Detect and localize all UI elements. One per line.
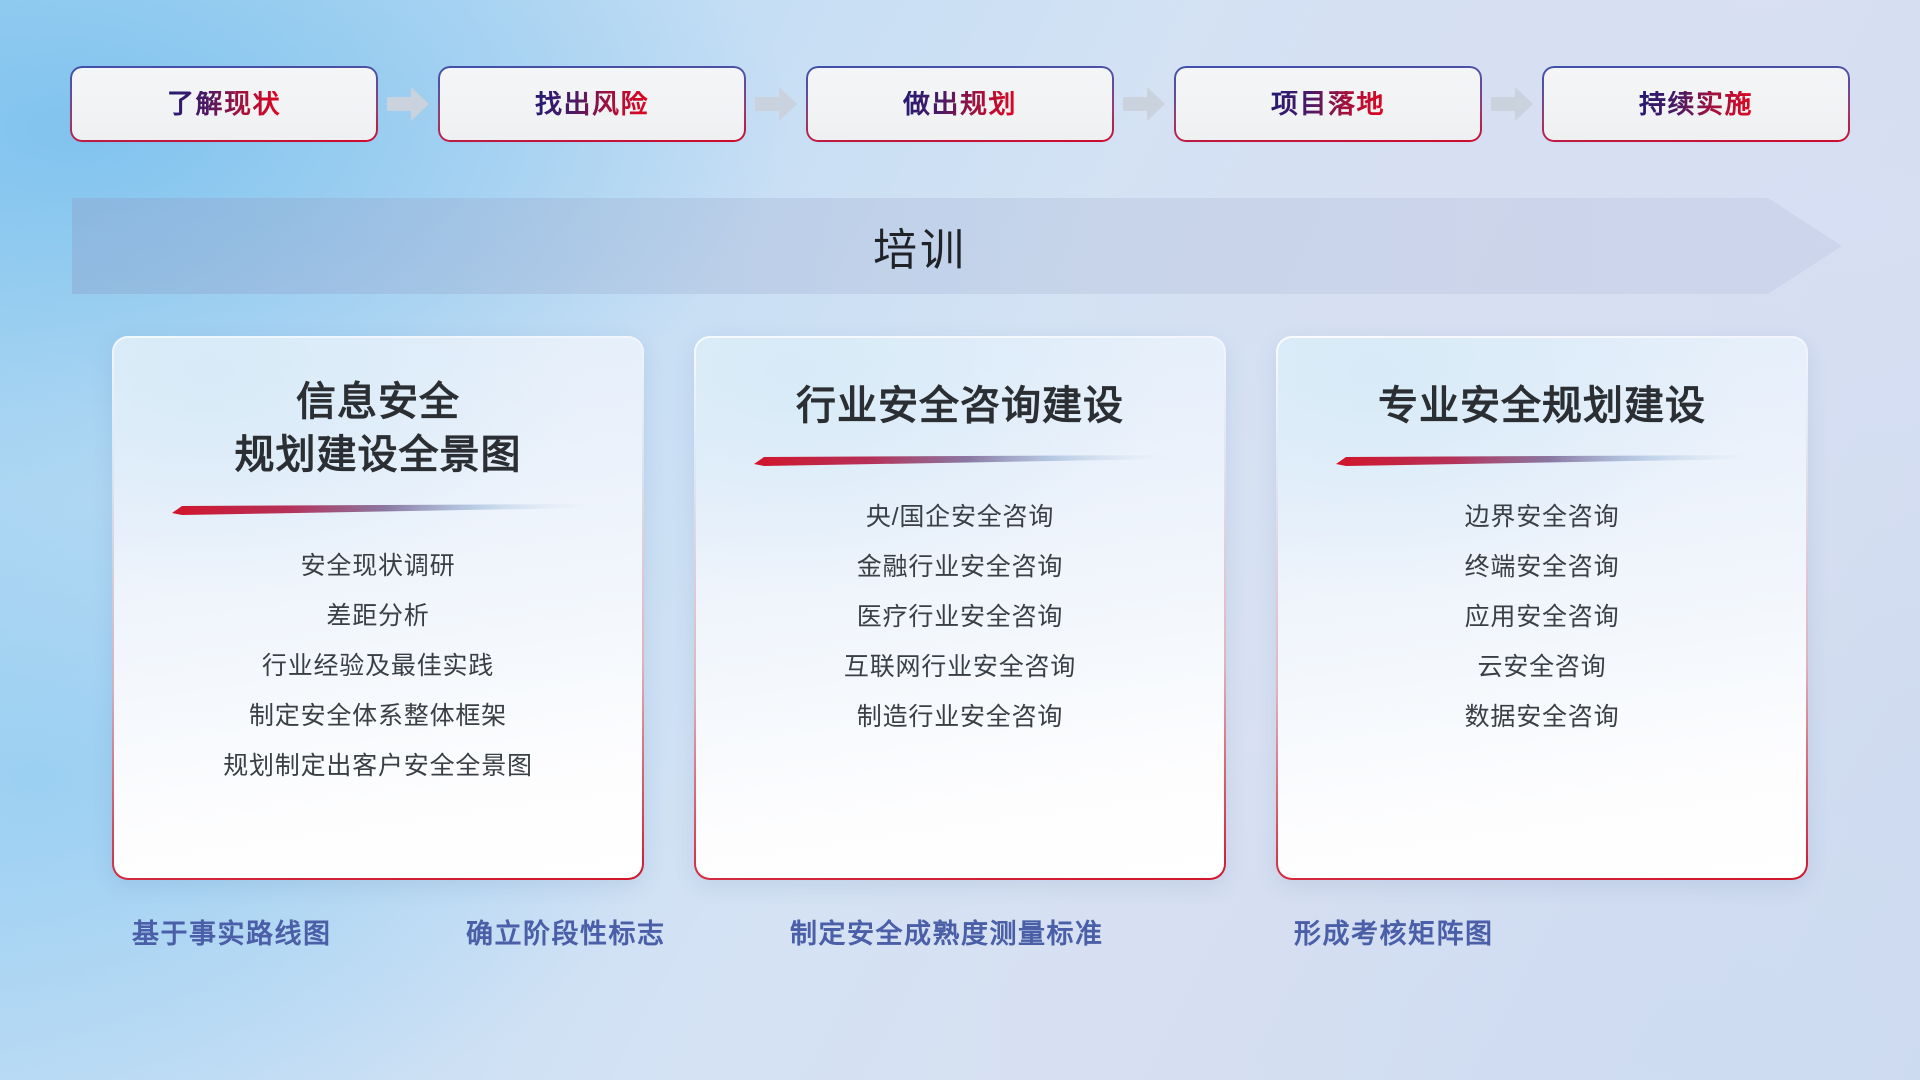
service-card-3-title: 专业安全规划建设 <box>1278 380 1806 433</box>
step-pill-label: 做出规划 <box>903 91 1017 118</box>
list-item: 互联网行业安全咨询 <box>844 642 1076 692</box>
footer-labels-row: 基于事实路线图 确立阶段性标志 制定安全成熟度测量标准 形成考核矩阵图 <box>0 910 1920 958</box>
service-card-2[interactable]: 行业安全咨询建设 <box>694 336 1226 880</box>
service-card-1-list: 安全现状调研 差距分析 行业经验及最佳实践 制定安全体系整体框架 规划制定出客户… <box>114 541 642 791</box>
list-item: 制定安全体系整体框架 <box>249 691 507 741</box>
step-pill-label: 持续实施 <box>1639 91 1753 118</box>
slide-canvas: 了解现状 找出风险 做出规划 项目落地 <box>0 0 1920 1080</box>
step-pill-label: 了解现状 <box>167 91 281 118</box>
step-pill-label: 找出风险 <box>535 91 649 118</box>
service-card-3-title-line-1: 专业安全规划建设 <box>1302 380 1782 433</box>
right-arrow-icon <box>387 87 429 121</box>
service-card-2-list: 央/国企安全咨询 金融行业安全咨询 医疗行业安全咨询 互联网行业安全咨询 制造行… <box>696 492 1224 742</box>
footer-label-3: 制定安全成熟度测量标准 <box>790 910 1104 958</box>
card-divider-accent <box>1336 455 1748 466</box>
list-item: 安全现状调研 <box>301 541 456 591</box>
right-arrow-icon <box>1491 87 1533 121</box>
banner-title: 培训 <box>72 198 1842 294</box>
step-pill-1[interactable]: 了解现状 <box>72 68 376 140</box>
service-card-1-title-line-1: 信息安全 <box>138 376 618 429</box>
step-pill-3[interactable]: 做出规划 <box>808 68 1112 140</box>
service-card-1-title: 信息安全 规划建设全景图 <box>114 376 642 482</box>
list-item: 金融行业安全咨询 <box>857 542 1063 592</box>
list-item: 医疗行业安全咨询 <box>857 592 1063 642</box>
card-divider-accent <box>754 455 1166 466</box>
service-card-3[interactable]: 专业安全规划建设 <box>1276 336 1808 880</box>
list-item: 差距分析 <box>326 591 429 641</box>
list-item: 数据安全咨询 <box>1465 692 1620 742</box>
service-card-2-title-line-1: 行业安全咨询建设 <box>720 380 1200 433</box>
process-steps-row: 了解现状 找出风险 做出规划 项目落地 <box>72 68 1848 140</box>
list-item: 央/国企安全咨询 <box>866 492 1054 542</box>
step-pill-label: 项目落地 <box>1271 91 1385 118</box>
service-card-2-body: 行业安全咨询建设 <box>696 338 1224 878</box>
step-pill-4[interactable]: 项目落地 <box>1176 68 1480 140</box>
service-card-3-body: 专业安全规划建设 <box>1278 338 1806 878</box>
footer-label-2: 确立阶段性标志 <box>466 910 666 958</box>
list-item: 边界安全咨询 <box>1465 492 1620 542</box>
right-arrow-icon <box>1123 87 1165 121</box>
list-item: 行业经验及最佳实践 <box>262 641 494 691</box>
service-cards-row: 信息安全 规划建设全景图 <box>112 336 1808 880</box>
service-card-3-list: 边界安全咨询 终端安全咨询 应用安全咨询 云安全咨询 数据安全咨询 <box>1278 492 1806 742</box>
service-card-1[interactable]: 信息安全 规划建设全景图 <box>112 336 644 880</box>
list-item: 终端安全咨询 <box>1465 542 1620 592</box>
list-item: 云安全咨询 <box>1477 642 1606 692</box>
list-item: 规划制定出客户安全全景图 <box>223 741 533 791</box>
service-card-2-title: 行业安全咨询建设 <box>696 380 1224 433</box>
list-item: 应用安全咨询 <box>1465 592 1620 642</box>
training-banner: 培训 <box>72 198 1842 294</box>
list-item: 制造行业安全咨询 <box>857 692 1063 742</box>
service-card-1-body: 信息安全 规划建设全景图 <box>114 338 642 878</box>
footer-label-1: 基于事实路线图 <box>132 910 332 958</box>
right-arrow-icon <box>755 87 797 121</box>
step-pill-5[interactable]: 持续实施 <box>1544 68 1848 140</box>
service-card-1-title-line-2: 规划建设全景图 <box>138 429 618 482</box>
card-divider-accent <box>172 504 584 515</box>
step-pill-2[interactable]: 找出风险 <box>440 68 744 140</box>
footer-label-4: 形成考核矩阵图 <box>1294 910 1494 958</box>
